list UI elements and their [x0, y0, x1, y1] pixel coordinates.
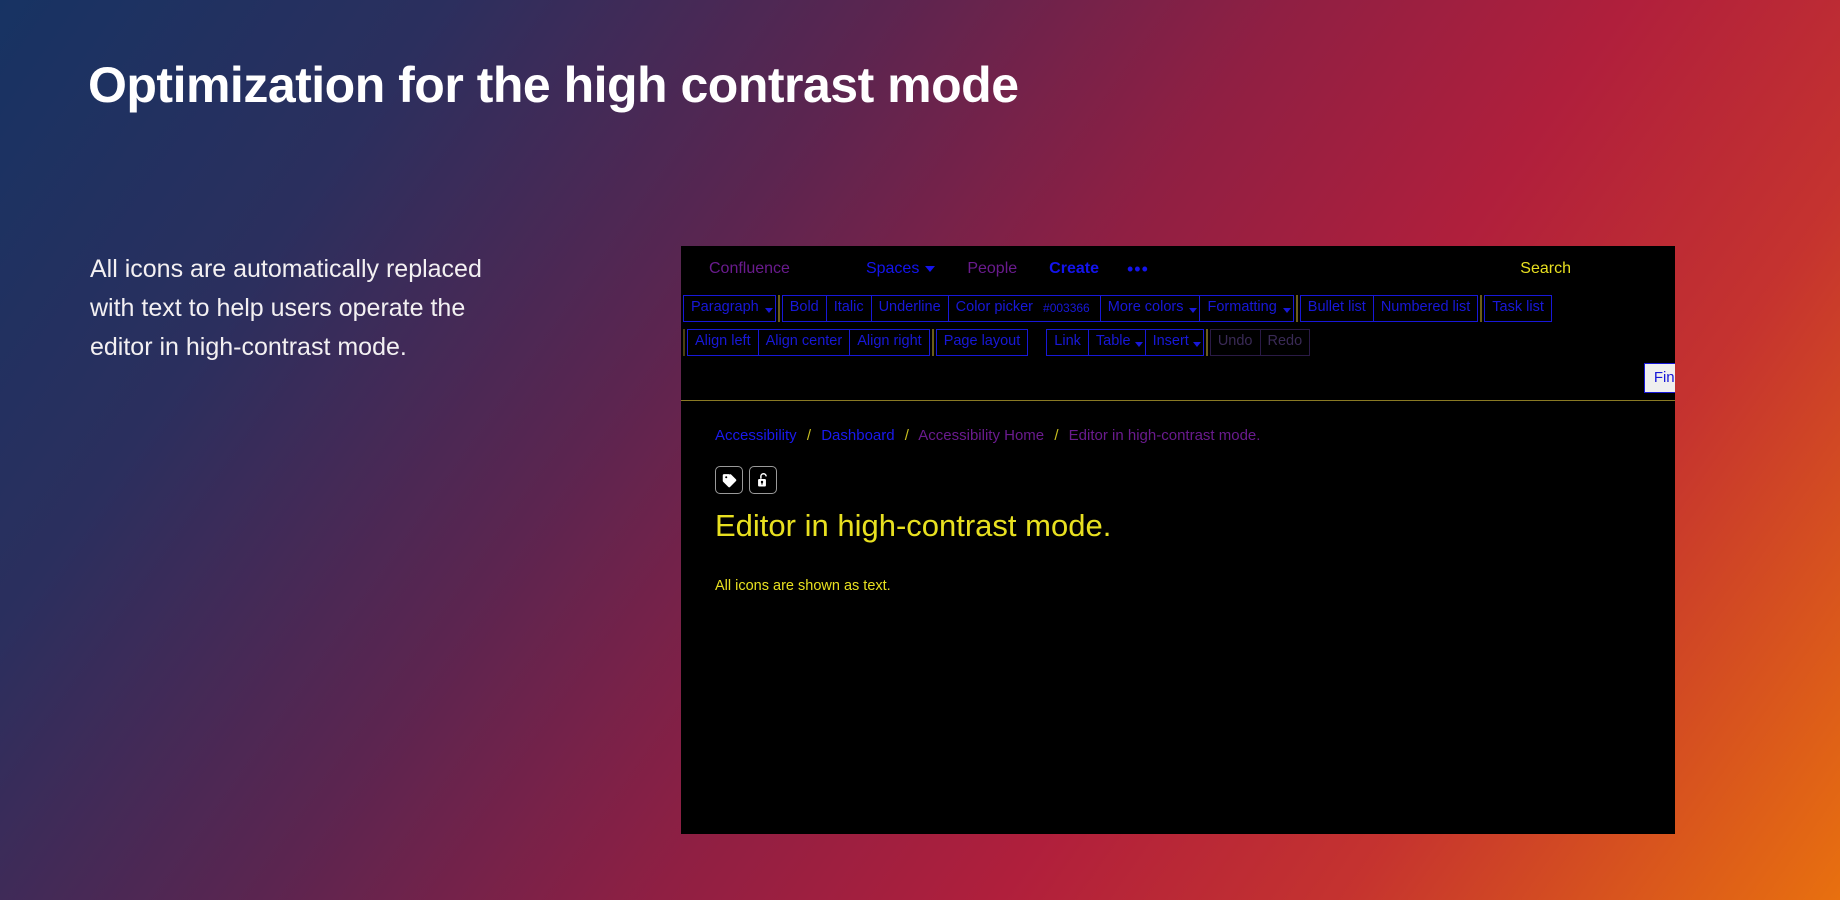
toolbar-group-history: Undo Redo [1210, 329, 1310, 356]
align-center-button[interactable]: Align center [758, 329, 851, 356]
toolbar-group-text-style: Bold Italic Underline Color picker #0033… [782, 295, 1294, 322]
tag-icon[interactable] [715, 466, 743, 494]
align-right-button[interactable]: Align right [849, 329, 929, 356]
formatting-label: Formatting [1207, 300, 1276, 315]
breadcrumb: Accessibility / Dashboard / Accessibilit… [715, 427, 1675, 444]
unlock-icon-glyph [756, 472, 771, 488]
breadcrumb-item-accessibility[interactable]: Accessibility [715, 427, 797, 444]
toolbar-separator [1480, 295, 1482, 322]
table-button[interactable]: Table [1088, 329, 1146, 356]
italic-button[interactable]: Italic [826, 295, 872, 322]
nav-item-create[interactable]: Create [1049, 260, 1099, 278]
nav-item-spaces[interactable]: Spaces [866, 260, 935, 278]
nav-item-people[interactable]: People [967, 260, 1017, 278]
toolbar-separator [1206, 329, 1208, 356]
more-colors-label: More colors [1108, 300, 1184, 315]
chevron-down-icon [1193, 342, 1201, 347]
toolbar-group-lists: Bullet list Numbered list [1300, 295, 1478, 322]
redo-button[interactable]: Redo [1260, 329, 1311, 356]
bold-button[interactable]: Bold [782, 295, 827, 322]
color-picker-label: Color picker [956, 300, 1033, 315]
color-value: #003366 [1043, 302, 1090, 314]
search-button[interactable]: Search [1520, 260, 1571, 278]
underline-button[interactable]: Underline [871, 295, 949, 322]
find-toolbar: Find [681, 356, 1675, 400]
task-list-button[interactable]: Task list [1484, 295, 1552, 322]
color-picker-button[interactable]: Color picker #003366 [948, 295, 1101, 322]
breadcrumb-item-accessibility-home[interactable]: Accessibility Home [918, 427, 1044, 444]
tag-icon-glyph [722, 473, 737, 488]
insert-button[interactable]: Insert [1145, 329, 1204, 356]
table-label: Table [1096, 334, 1131, 349]
breadcrumb-item-current-page: Editor in high-contrast mode. [1069, 427, 1261, 444]
page-layout-button[interactable]: Page layout [936, 329, 1029, 356]
content-page-title: Editor in high-contrast mode. [715, 508, 1675, 544]
toolbar-spacer [1028, 329, 1046, 356]
chevron-down-icon [765, 308, 773, 313]
find-button[interactable]: Find [1644, 363, 1675, 393]
breadcrumb-separator: / [807, 427, 811, 444]
chevron-down-icon [1189, 308, 1197, 313]
chevron-down-icon [1283, 308, 1291, 313]
toolbar-group-insert: Link Table Insert [1046, 329, 1204, 356]
breadcrumb-separator: / [905, 427, 909, 444]
ellipsis-icon[interactable]: ••• [1127, 264, 1149, 274]
unlock-icon[interactable] [749, 466, 777, 494]
breadcrumb-item-dashboard[interactable]: Dashboard [821, 427, 894, 444]
toolbar-separator [683, 329, 685, 356]
editor-content-area: Accessibility / Dashboard / Accessibilit… [681, 401, 1675, 594]
chevron-down-icon [925, 266, 935, 272]
toolbar-group-paragraph: Paragraph [683, 295, 776, 322]
toolbar-separator [1296, 295, 1298, 322]
content-paragraph: All icons are shown as text. [715, 578, 1675, 594]
paragraph-style-label: Paragraph [691, 300, 759, 315]
nav-item-spaces-label: Spaces [866, 260, 919, 278]
link-button[interactable]: Link [1046, 329, 1089, 356]
toolbar-group-alignment: Align left Align center Align right [687, 329, 930, 356]
more-colors-button[interactable]: More colors [1100, 295, 1201, 322]
page-actions [715, 466, 1675, 494]
global-navigation-bar: Confluence Spaces People Create ••• Sear… [681, 246, 1675, 292]
undo-button[interactable]: Undo [1210, 329, 1261, 356]
align-left-button[interactable]: Align left [687, 329, 759, 356]
bullet-list-button[interactable]: Bullet list [1300, 295, 1374, 322]
paragraph-style-button[interactable]: Paragraph [683, 295, 776, 322]
chevron-down-icon [1135, 342, 1143, 347]
formatting-toolbar-row-2: Align left Align center Align right Page… [683, 328, 1675, 356]
page-title: Optimization for the high contrast mode [88, 56, 1019, 114]
nav-item-confluence[interactable]: Confluence [709, 260, 790, 278]
formatting-toolbar-row-1: Paragraph Bold Italic Underline Color pi… [683, 294, 1675, 322]
insert-label: Insert [1153, 334, 1189, 349]
editor-window: Confluence Spaces People Create ••• Sear… [681, 246, 1675, 834]
breadcrumb-separator: / [1054, 427, 1058, 444]
numbered-list-button[interactable]: Numbered list [1373, 295, 1478, 322]
toolbar-separator [932, 329, 934, 356]
slide-description: All icons are automatically replaced wit… [90, 250, 490, 367]
formatting-button[interactable]: Formatting [1199, 295, 1293, 322]
toolbar-separator [778, 295, 780, 322]
